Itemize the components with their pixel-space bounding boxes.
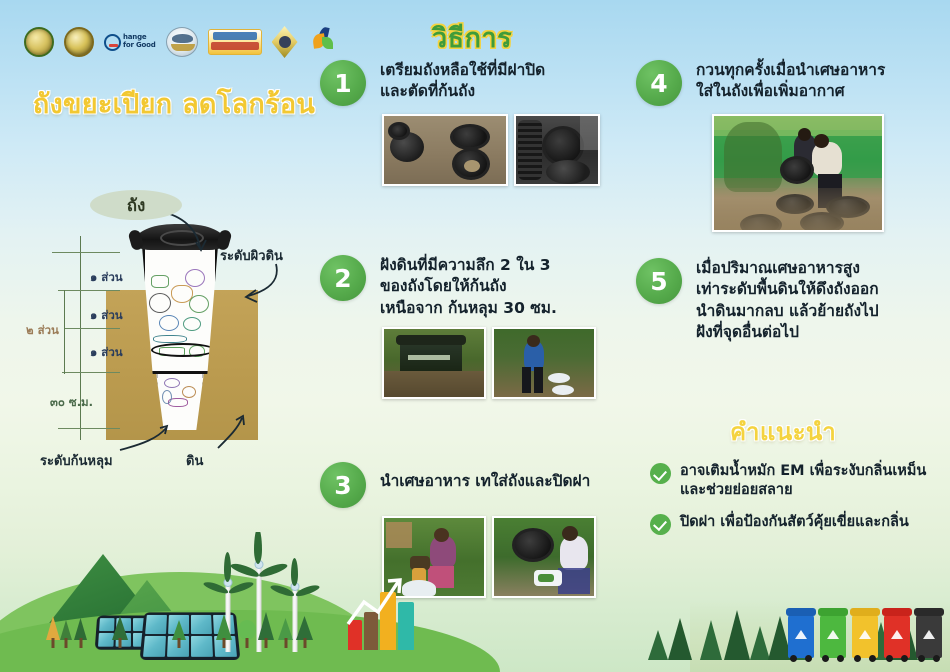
bin-yellow [852,614,878,658]
step-4: 4 กวนทุกครั้งเมื่อนำเศษอาหาร ใส่ในถังเพื… [636,60,946,232]
photo-bin-buried-in-soil [382,327,486,399]
tree [46,618,60,648]
ship-icon [166,27,198,57]
tree [296,618,313,648]
c-ring-icon [104,34,121,51]
royal-banner-emblem-logo [208,29,262,55]
portion-label-3: ๑ ส่วน [90,344,123,362]
diamond-emblem-logo [272,26,298,58]
tick-3 [62,372,120,373]
cfg-line2: for Good [123,42,156,50]
step-4-photos [712,114,946,232]
step-5-line-2: เท่าระดับพื้นดินให้ดึงถังออก [696,279,879,300]
step-3-text: นำเศษอาหาร เทใส่ถังและปิดฝา [380,462,590,492]
garuda-seal-gold-logo [64,27,94,57]
depth-below-label: ๓๐ ซ.ม. [50,394,93,412]
step-1-photos [382,114,620,186]
bin-lid [134,224,226,250]
bin-green [820,614,846,658]
step-5-text: เมื่อปริมาณเศษอาหารสูง เท่าระดับพื้นดินใ… [696,258,879,344]
step-5-line-1: เมื่อปริมาณเศษอาหารสูง [696,258,879,279]
change-for-good-logo: hange for Good [104,34,156,51]
step-4-line-1: กวนทุกครั้งเมื่อนำเศษอาหาร [696,60,885,81]
tick-bottom [58,428,120,429]
step-3-line-1: นำเศษอาหาร เทใส่ถังและปิดฝา [380,471,590,492]
ministry-seal-green-logo [24,27,54,57]
step-1: 1 เตรียมถังหลือใช้ที่มีฝาปิด และตัดที่ก้… [320,60,620,186]
bin-below-ground-part [156,372,204,430]
portion-label-1: ๑ ส่วน [90,269,123,287]
step-5-line-4: ฝังที่จุดอื่นต่อไป [696,322,879,343]
two-portion-bracket [64,290,65,374]
banner-icon [208,29,262,55]
burial-depth-diagram: ๑ ส่วน ๑ ส่วน ๑ ส่วน ๒ ส่วน ๓๐ ซ.ม. [8,182,328,472]
bin-red [884,614,910,658]
tip-2-line-1: ปิดฝา เพื่อป้องกันสัตว์คุ้ยเขี่ยและกลิ่น [680,513,909,532]
diamond-icon [272,26,298,58]
portion-label-2: ๑ ส่วน [90,307,123,325]
step-4-line-2: ใส่ในถังเพื่อเพิ่มอากาศ [696,81,885,102]
check-circle-icon [650,463,671,484]
tree [60,622,72,648]
seal-icon [24,27,54,57]
tips-heading: คำแนะนำ [730,412,836,451]
tree [278,620,293,648]
bin-label-pill: ถัง [90,190,182,220]
tree [74,620,87,648]
photo-stacked-black-bins-indoor [514,114,600,186]
tree [258,614,274,648]
tree [216,616,232,648]
step-3-number: 3 [320,462,366,508]
step-1-number: 1 [320,60,366,106]
step-5: 5 เมื่อปริมาณเศษอาหารสูง เท่าระดับพื้นดิ… [636,258,946,344]
growth-arrow-icon [344,576,424,632]
tip-1-line-1: อาจเติมน้ำหมัก EM เพื่อระงับกลิ่นเหม็น [680,462,926,481]
step-4-text: กวนทุกครั้งเมื่อนำเศษอาหาร ใส่ในถังเพื่อ… [696,60,885,103]
bin-black [916,614,942,658]
photo-person-digging-pit [492,327,596,399]
tick-1 [58,290,120,291]
step-4-number: 4 [636,60,682,106]
step-2-text: ฝังดินที่มีความลึก 2 ใน 3 ของถังโดยให้ก้… [380,255,557,319]
pine-tree [648,630,668,660]
compost-bin-illustration [132,224,228,424]
step-2-photos [382,327,620,399]
step-2-line-3: เหนือจาก ก้นหลุม 30 ซม. [380,298,557,319]
soil-label: ดิน [186,450,203,471]
partner-logo-row: hange for Good [24,22,314,62]
method-heading: วิธีการ [432,16,512,59]
step-1-line-1: เตรียมถังหลือใช้ที่มีฝาปิด [380,60,545,81]
step-1-text: เตรียมถังหลือใช้ที่มีฝาปิด และตัดที่ก้นถ… [380,60,545,103]
step-1-line-2: และตัดที่ก้นถัง [380,81,545,102]
step-5-number: 5 [636,258,682,304]
garuda-icon [64,27,94,57]
tree [112,618,128,648]
tip-1-line-2: และช่วยย่อยสลาย [680,481,926,500]
bin-above-ground-part [142,246,218,374]
wind-turbine [268,570,322,652]
tick-2 [64,328,120,329]
ship-emblem-logo [166,27,198,57]
step-2-number: 2 [320,255,366,301]
tree [172,622,186,648]
tree [238,622,256,648]
tick-top [52,252,120,253]
flame-leaf-emblem-logo [308,26,338,58]
page-title: ถังขยะเปียก ลดโลกร้อน [26,82,322,125]
pit-bottom-label: ระดับก้นหลุม [40,450,113,471]
total-portions-label: ๒ ส่วน [26,322,59,340]
step-2-line-2: ของถังโดยให้ก้นถัง [380,276,557,297]
tip-item-1: อาจเติมน้ำหมัก EM เพื่อระงับกลิ่นเหม็น แ… [650,462,946,501]
ground-level-label: ระดับผิวดิน [220,245,283,266]
photo-people-stirring-buried-bins [712,114,884,232]
step-2-line-1: ฝังดินที่มีความลึก 2 ใน 3 [380,255,557,276]
bin-blue [788,614,814,658]
photo-black-bins-on-ground [382,114,508,186]
step-5-line-3: นำดินมากลบ แล้วย้ายถังไป [696,301,879,322]
flame-leaf-icon [308,26,338,58]
pine-tree [668,618,692,660]
bottom-scenery-illustration [0,532,950,672]
step-2: 2 ฝังดินที่มีความลึก 2 ใน 3 ของถังโดยให้… [320,255,620,399]
